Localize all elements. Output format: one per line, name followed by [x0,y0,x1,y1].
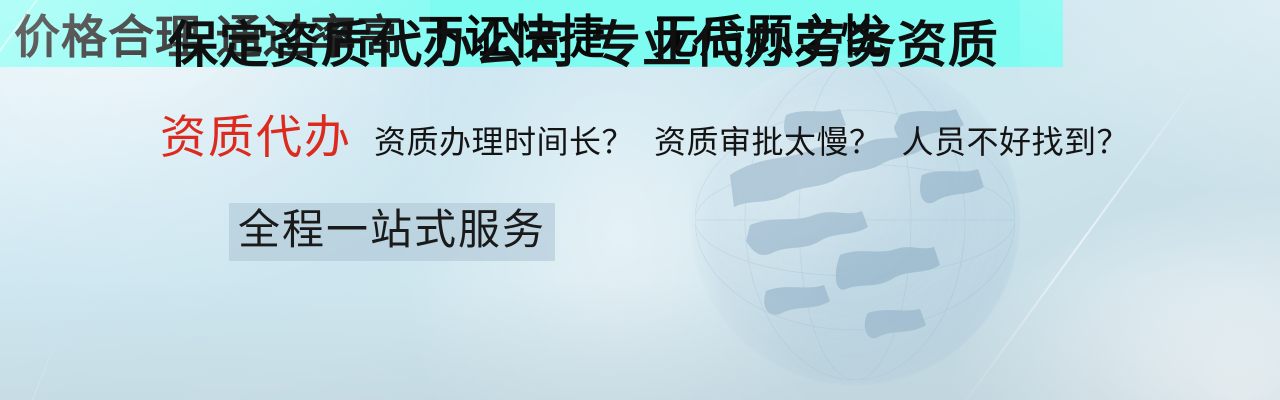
promo-banner: 保定资质代办公司 专业代办劳务资质 资质代办 资质办理时间长？ 资质审批太慢？ … [0,0,1280,400]
question-processing-time: 资质办理时间长？ [374,126,634,158]
question-approval-speed: 资质审批太慢？ [654,126,882,158]
question-staff-sourcing: 人员不好找到？ [902,126,1130,158]
page-title: 保定资质代办公司 专业代办劳务资质 [168,20,999,70]
bottom-light-wash [0,280,1280,400]
service-tagline: 全程一站式服务 [229,203,555,261]
globe-continents-icon [690,55,1020,385]
brand-highlight-text: 资质代办 [160,115,352,161]
questions-row: 资质代办 资质办理时间长？ 资质审批太慢？ 人员不好找到？ [160,115,1129,161]
globe-watermark [690,55,1020,385]
light-streak-bottom-left [0,330,61,400]
